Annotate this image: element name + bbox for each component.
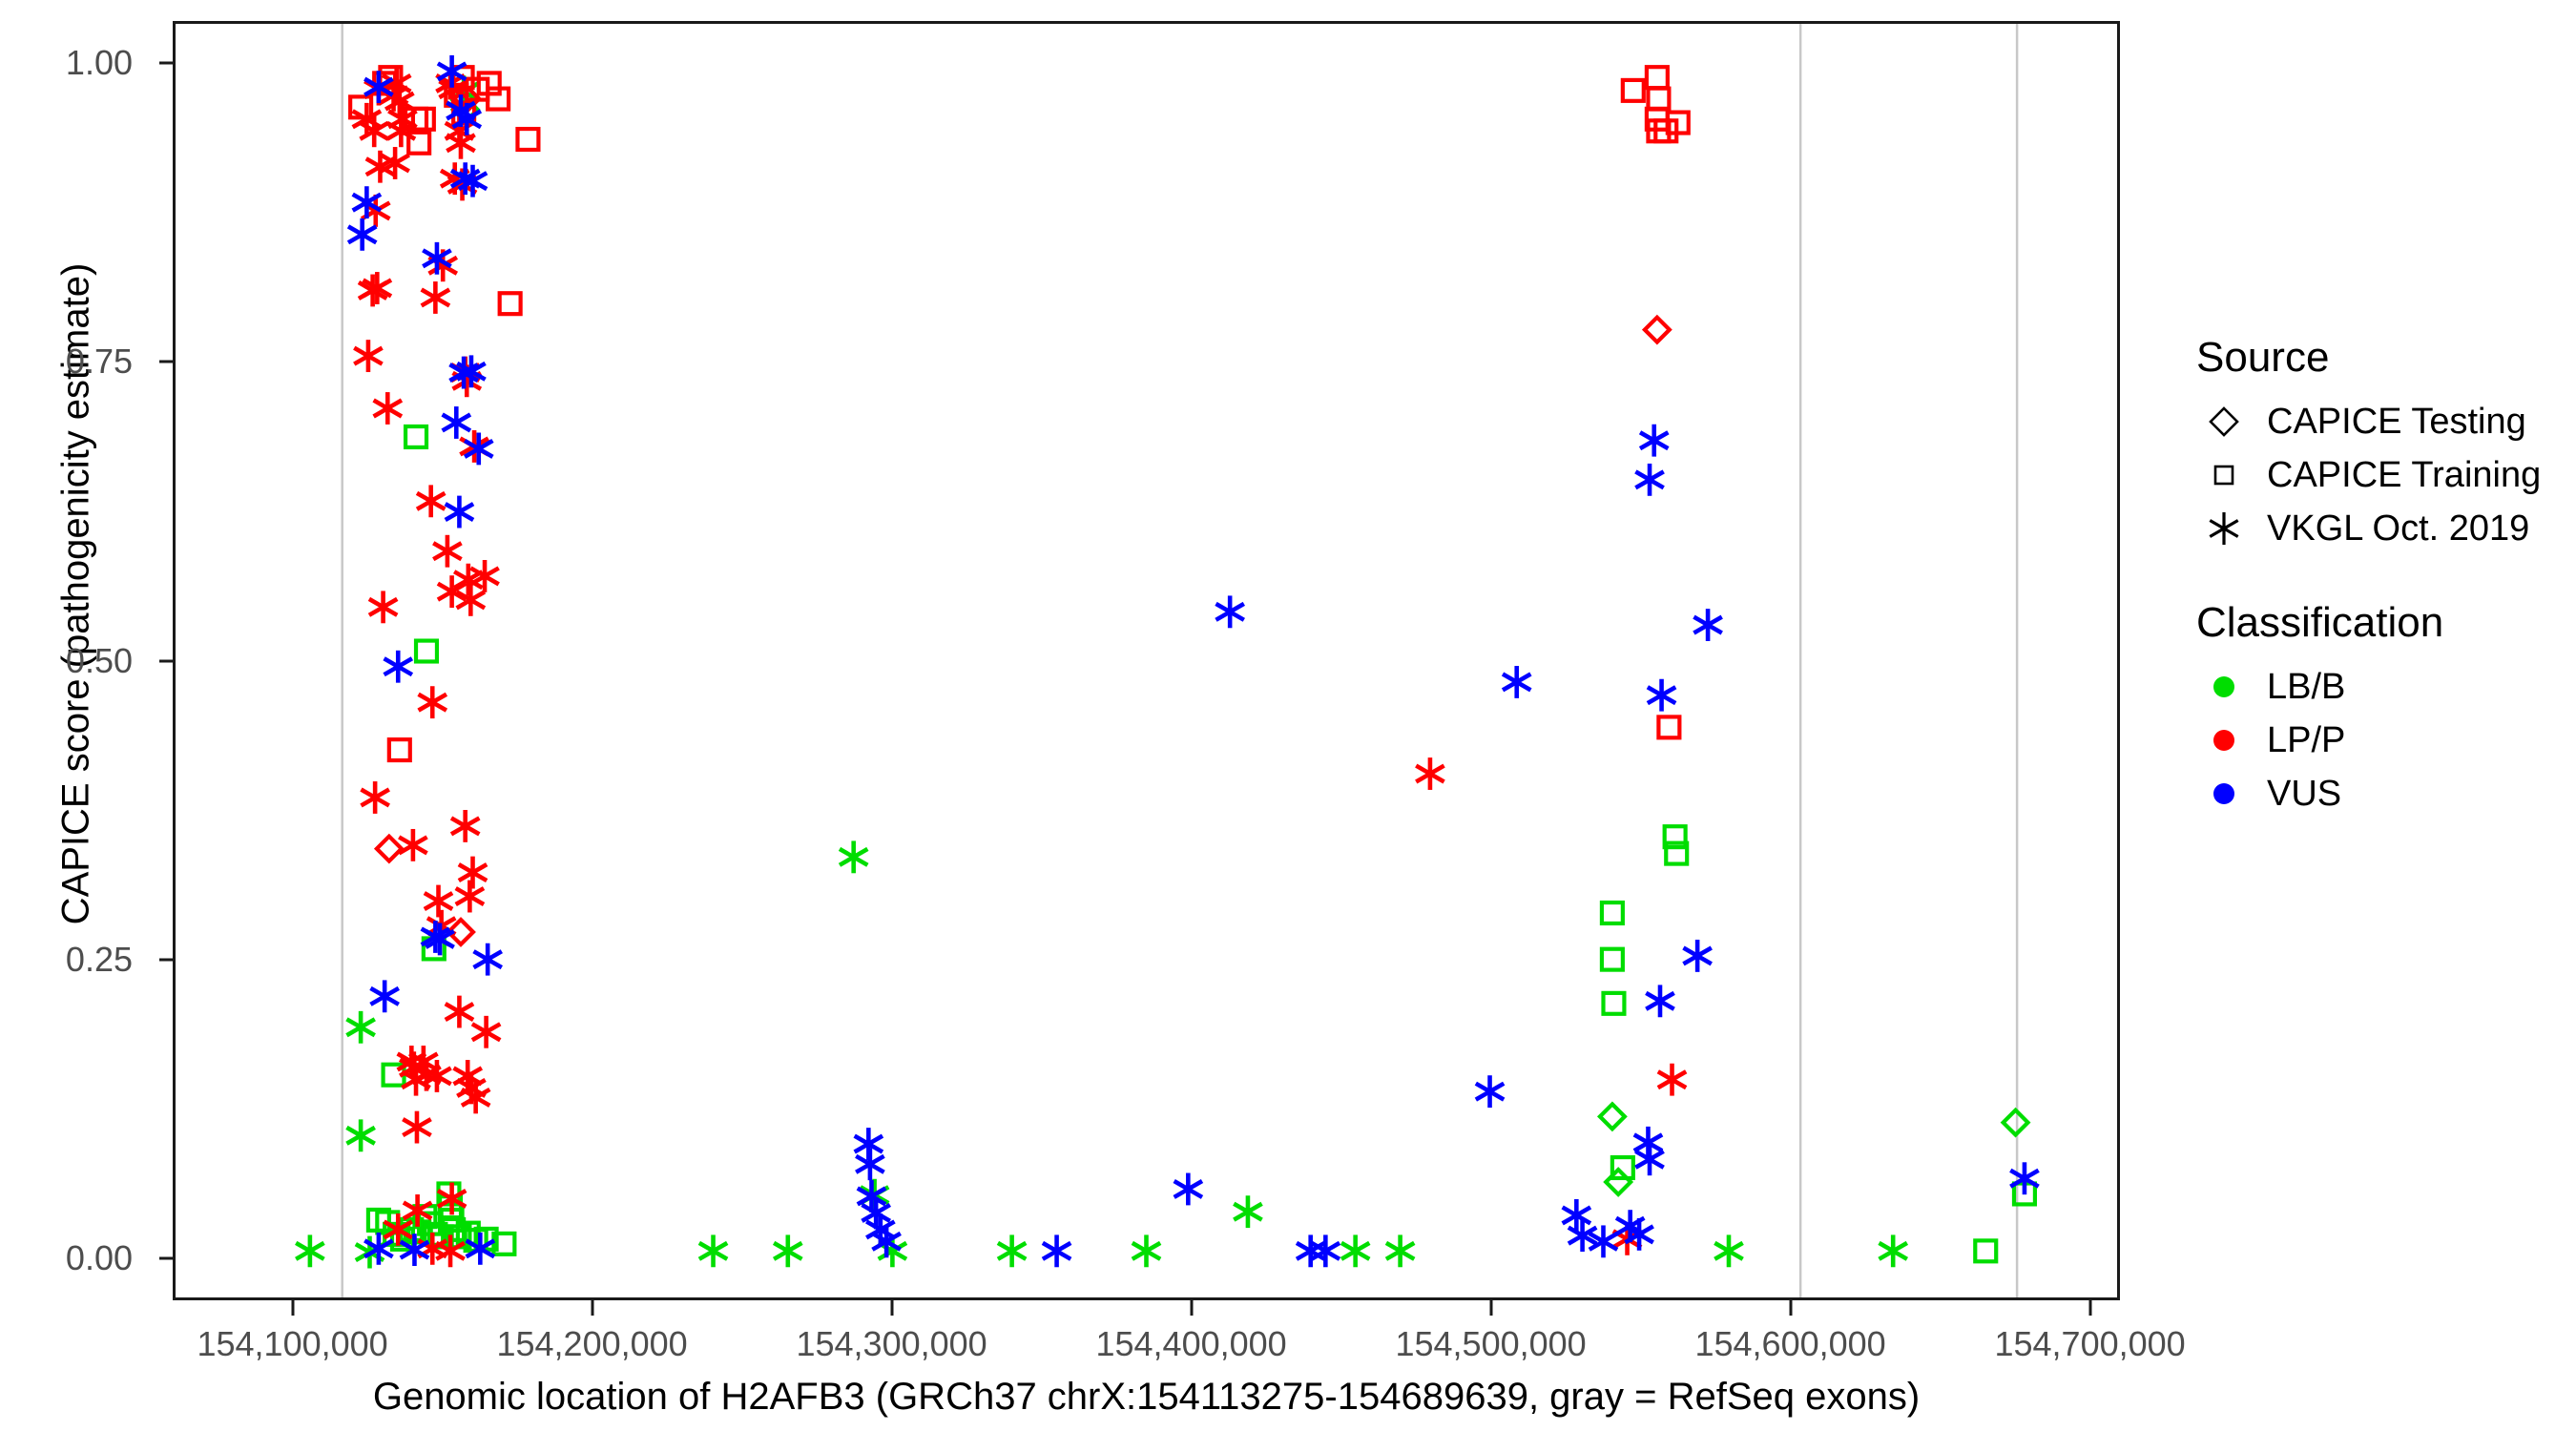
data-point-asterisk — [399, 829, 426, 861]
data-point-asterisk — [346, 1011, 374, 1044]
data-point-asterisk — [1341, 1234, 1369, 1267]
x-tick-label: 154,500,000 — [1395, 1324, 1586, 1364]
data-point-square — [1975, 1240, 1996, 1261]
data-point-asterisk — [447, 127, 474, 159]
legend-item-lbb[interactable]: LB/B — [2194, 660, 2566, 714]
x-axis-title: Genomic location of H2AFB3 (GRCh37 chrX:… — [173, 1376, 2120, 1419]
data-point-square — [405, 426, 426, 447]
data-point-asterisk — [1476, 1075, 1504, 1108]
series-vus — [348, 55, 2039, 1267]
legend-label-vus: VUS — [2267, 774, 2341, 815]
y-tick-mark — [159, 61, 173, 64]
data-point-square — [1647, 67, 1668, 88]
data-point-diamond — [2004, 1110, 2028, 1135]
scatter-plot-canvas — [176, 24, 2117, 1297]
data-point-asterisk — [384, 651, 412, 683]
data-point-asterisk — [1234, 1195, 1261, 1228]
x-tick-label: 154,600,000 — [1694, 1324, 1885, 1364]
data-point-asterisk — [370, 980, 398, 1012]
data-point-asterisk — [1640, 425, 1668, 457]
x-tick-mark — [291, 1300, 294, 1316]
data-point-asterisk — [1683, 940, 1711, 972]
refseq-exon-lines — [343, 24, 2017, 1297]
data-point-diamond — [1645, 318, 1670, 342]
y-tick-mark — [159, 1257, 173, 1260]
data-point-asterisk — [1174, 1173, 1202, 1206]
data-point-diamond — [1600, 1104, 1625, 1129]
data-point-square — [517, 129, 538, 150]
x-tick-mark — [890, 1300, 893, 1316]
data-point-asterisk — [361, 781, 388, 814]
x-tick-mark — [1190, 1300, 1193, 1316]
data-point-asterisk — [1563, 1199, 1590, 1232]
data-point-asterisk — [840, 840, 867, 873]
data-point-asterisk — [774, 1234, 801, 1267]
legend-title-classification: Classification — [2196, 599, 2566, 647]
data-point-asterisk — [1658, 1064, 1686, 1096]
data-point-asterisk — [1386, 1234, 1414, 1267]
data-point-square — [500, 293, 521, 314]
data-point-asterisk — [1503, 666, 1530, 698]
legend-item-vkgl[interactable]: VKGL Oct. 2019 — [2194, 502, 2566, 555]
dot-icon-vus — [2194, 775, 2254, 813]
data-point-asterisk — [369, 591, 397, 623]
dot-icon-lbb — [2194, 668, 2254, 706]
x-tick-mark — [2088, 1300, 2091, 1316]
asterisk-icon — [2194, 508, 2254, 550]
data-point-square — [389, 739, 410, 760]
legend-label-lpp: LP/P — [2267, 720, 2345, 761]
data-point-asterisk — [1297, 1234, 1324, 1267]
data-point-asterisk — [1646, 985, 1673, 1017]
legend-item-capice-testing[interactable]: CAPICE Testing — [2194, 395, 2566, 448]
data-point-asterisk — [348, 218, 376, 251]
y-tick-mark — [159, 659, 173, 662]
data-point-asterisk — [433, 535, 461, 568]
data-point-asterisk — [422, 281, 449, 314]
data-point-asterisk — [472, 1016, 500, 1048]
data-point-asterisk — [425, 885, 452, 918]
data-point-asterisk — [403, 1111, 430, 1144]
data-point-asterisk — [473, 944, 501, 976]
data-point-asterisk — [417, 485, 445, 517]
x-tick-label: 154,300,000 — [796, 1324, 987, 1364]
data-point-asterisk — [1635, 464, 1663, 496]
x-tick-mark — [1489, 1300, 1492, 1316]
data-point-asterisk — [1312, 1234, 1340, 1267]
dot-icon-lpp — [2194, 721, 2254, 759]
chart-page: CAPICE score (pathogenicity estimate) 0.… — [0, 0, 2576, 1431]
legend-item-capice-training[interactable]: CAPICE Training — [2194, 448, 2566, 502]
plot-panel — [173, 21, 2120, 1300]
x-tick-label: 154,200,000 — [496, 1324, 687, 1364]
data-point-asterisk — [699, 1234, 727, 1267]
legend-item-lpp[interactable]: LP/P — [2194, 714, 2566, 767]
y-tick-mark — [159, 361, 173, 363]
x-tick-mark — [591, 1300, 593, 1316]
data-point-square — [1603, 993, 1624, 1014]
data-point-asterisk — [1215, 595, 1243, 628]
data-point-asterisk — [451, 810, 479, 842]
data-point-asterisk — [419, 686, 447, 718]
y-tick-mark — [159, 958, 173, 961]
data-point-asterisk — [443, 406, 470, 439]
x-tick-mark — [1789, 1300, 1792, 1316]
data-point-asterisk — [1880, 1234, 1907, 1267]
x-tick-label: 154,100,000 — [197, 1324, 387, 1364]
data-point-square — [416, 641, 437, 662]
data-point-asterisk — [998, 1234, 1026, 1267]
data-point-diamond — [377, 837, 402, 861]
legend-item-vus[interactable]: VUS — [2194, 767, 2566, 820]
legend-label-lbb: LB/B — [2267, 667, 2345, 708]
data-point-square — [1623, 80, 1644, 101]
data-point-asterisk — [354, 340, 382, 372]
x-axis-ticks — [173, 1300, 2120, 1319]
legend-spacer — [2194, 555, 2566, 599]
data-point-square — [1602, 949, 1623, 970]
data-point-asterisk — [1043, 1234, 1070, 1267]
x-axis-tick-labels: 154,100,000154,200,000154,300,000154,400… — [173, 1324, 2120, 1381]
data-point-square — [1648, 89, 1669, 110]
data-point-asterisk — [346, 1119, 374, 1151]
data-point-asterisk — [1714, 1234, 1742, 1267]
legend-label-capice-testing: CAPICE Testing — [2267, 402, 2526, 443]
x-tick-label: 154,700,000 — [1994, 1324, 2185, 1364]
legend-title-source: Source — [2196, 334, 2566, 382]
data-point-asterisk — [1416, 757, 1444, 790]
data-point-square — [1658, 716, 1679, 737]
legend-label-capice-training: CAPICE Training — [2267, 455, 2541, 496]
data-point-asterisk — [1132, 1234, 1160, 1267]
data-point-asterisk — [446, 996, 473, 1028]
data-points-layer — [296, 55, 2038, 1269]
data-point-square — [1602, 902, 1623, 923]
series-lb-b — [296, 75, 2035, 1268]
square-icon — [2194, 456, 2254, 494]
diamond-icon — [2194, 403, 2254, 441]
legend: Source CAPICE Testing CAPICE Training — [2194, 334, 2566, 820]
data-point-asterisk — [456, 881, 484, 913]
legend-label-vkgl: VKGL Oct. 2019 — [2267, 508, 2529, 550]
y-axis-ticks — [0, 0, 173, 1336]
x-tick-label: 154,400,000 — [1095, 1324, 1286, 1364]
data-point-diamond — [1606, 1170, 1631, 1194]
data-point-asterisk — [1648, 679, 1675, 712]
data-point-asterisk — [446, 496, 473, 529]
data-point-asterisk — [459, 857, 487, 889]
data-point-asterisk — [1693, 609, 1721, 641]
data-point-asterisk — [374, 392, 402, 425]
data-point-asterisk — [296, 1234, 323, 1267]
